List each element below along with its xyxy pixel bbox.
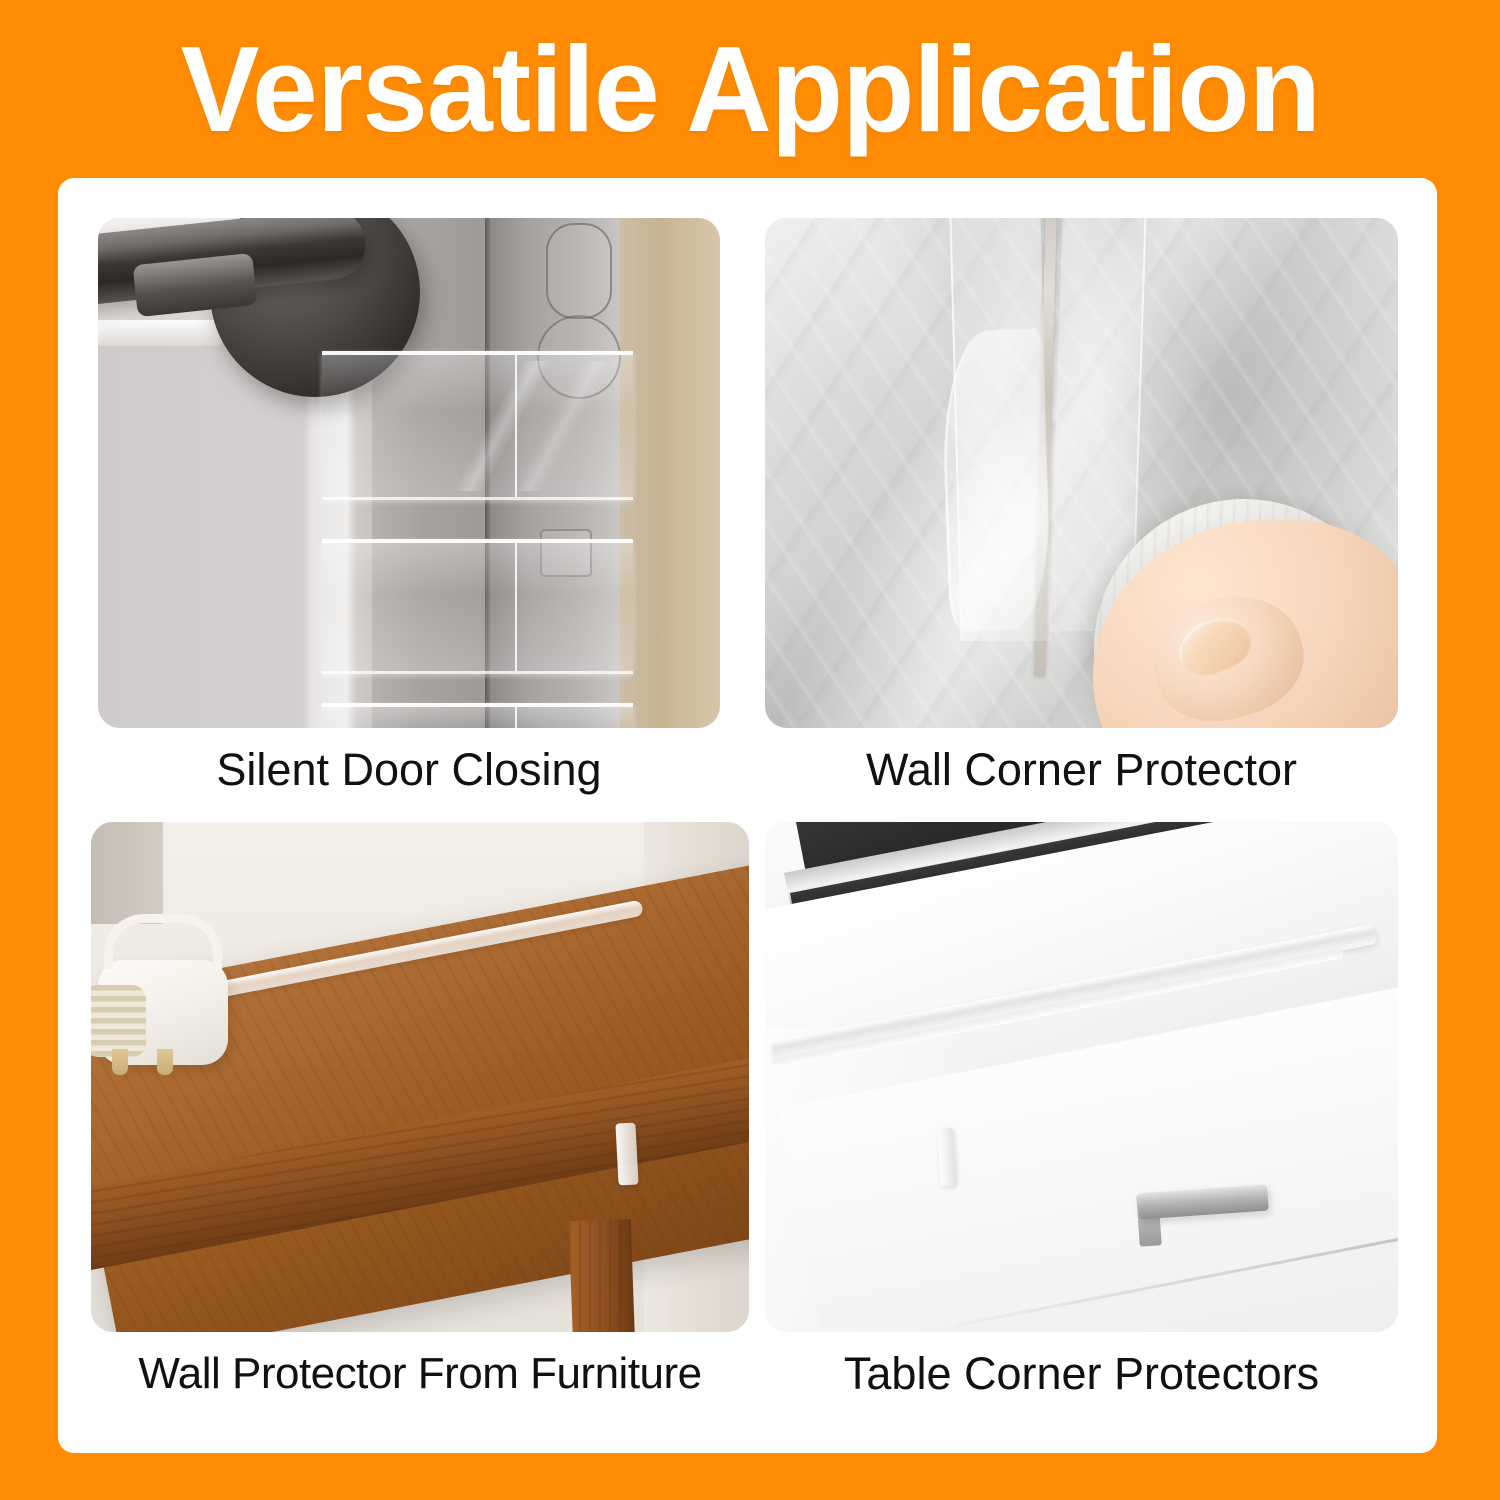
silicone-strip-bottom xyxy=(322,703,633,729)
title-bar: Versatile Application xyxy=(0,0,1500,178)
table-leg xyxy=(569,1219,635,1332)
panel-caption: Table Corner Protectors xyxy=(765,1350,1398,1399)
wall-trim xyxy=(98,320,222,346)
panel-caption: Wall Protector From Furniture xyxy=(91,1350,749,1398)
panel-caption: Wall Corner Protector xyxy=(765,746,1398,795)
corner-protector-end-cap xyxy=(938,1128,957,1187)
photo-wall-protector-from-furniture xyxy=(91,822,749,1332)
wall-left-shadow xyxy=(91,822,163,924)
panel-table-corner-protectors: Table Corner Protectors xyxy=(765,822,1398,1402)
protector-strip-end-cap xyxy=(616,1122,639,1185)
panel-wall-protector-from-furniture: Wall Protector From Furniture xyxy=(91,822,749,1402)
panel-silent-door-closing: Silent Door Closing xyxy=(98,218,720,798)
strip-bend-line xyxy=(515,355,517,498)
panel-caption: Silent Door Closing xyxy=(98,746,720,795)
panel-wall-corner-protector: Wall Corner Protector xyxy=(765,218,1398,798)
white-appliance-handle xyxy=(104,914,222,969)
strip-bend-line xyxy=(515,543,517,671)
door-panel-oval-marking xyxy=(546,223,612,319)
page-title: Versatile Application xyxy=(180,28,1319,150)
content-card: Silent Door Closing Wall Corner Protecto… xyxy=(58,178,1437,1453)
photo-table-corner-protectors xyxy=(765,822,1398,1332)
photo-wall-corner-protector xyxy=(765,218,1398,728)
poster-canvas: Versatile Application xyxy=(0,0,1500,1500)
appliance-foot-right xyxy=(157,1049,173,1075)
strip-bend-line xyxy=(515,707,517,729)
appliance-foot-left xyxy=(112,1049,128,1075)
white-appliance-grill xyxy=(91,985,146,1057)
photo-silent-door-closing xyxy=(98,218,720,728)
silicone-strip-middle xyxy=(322,539,633,674)
tape-peel-fold xyxy=(940,328,1052,631)
silicone-strip-top xyxy=(322,351,633,501)
